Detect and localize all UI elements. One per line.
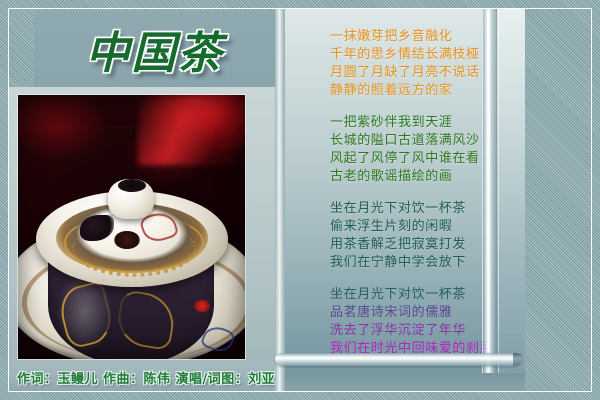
lyrics-panel-bottom-strip: [285, 377, 525, 391]
credits-strip: 作词：玉鳗儿 作曲：陈伟 演唱/词图：刘亚芹: [9, 361, 275, 391]
teacup-photo: [18, 95, 245, 359]
horizontal-glossy-bar: [275, 353, 521, 366]
page-title: 中国茶: [34, 17, 275, 81]
lyrics-panel: 一抹嫩芽把乡音融化 千年的思乡情结长满枝桠 月圆了月缺了月亮不说话 静静的照着远…: [285, 9, 525, 391]
photo-vignette: [18, 95, 245, 359]
right-edge-panel-strip: [498, 9, 525, 373]
panel-divider: [275, 9, 285, 391]
artwork-panel: 中国茶 作词：玉鳗儿 作曲：陈伟 演唱/词图：刘亚芹: [9, 9, 275, 391]
credits-text: 作词：玉鳗儿 作曲：陈伟 演唱/词图：刘亚芹: [17, 368, 275, 387]
slide-canvas: 中国茶 作词：玉鳗儿 作曲：陈伟 演唱/词图：刘亚芹: [0, 0, 600, 400]
vertical-bar-highlight: [487, 13, 490, 365]
title-band: 中国茶: [34, 11, 275, 87]
